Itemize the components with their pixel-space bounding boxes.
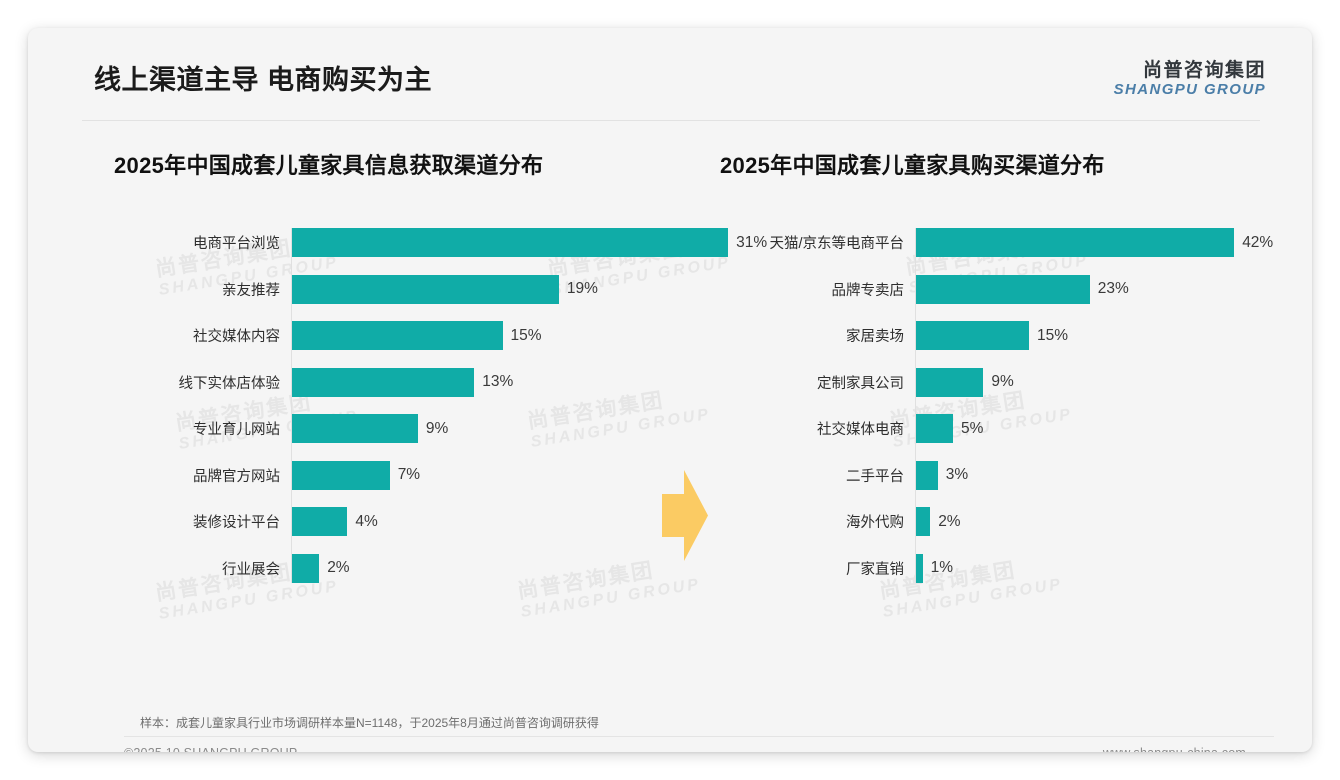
bar-row: 二手平台3% [718, 461, 1258, 490]
bar-value-label: 23% [1098, 280, 1129, 298]
chart-axis-right [915, 228, 916, 583]
bar-row: 品牌官方网站7% [86, 461, 676, 490]
bar [915, 228, 1234, 257]
bar-category-label: 品牌官方网站 [86, 465, 291, 486]
bar-category-label: 海外代购 [718, 511, 915, 532]
bar-row: 天猫/京东等电商平台42% [718, 228, 1258, 257]
copyright-text: ©2025.10 SHANGPU GROUP [124, 746, 297, 752]
website-link[interactable]: www.shangpu-china.com [1103, 746, 1246, 752]
bar-value-label: 5% [961, 420, 983, 438]
bar [915, 461, 938, 490]
bar-row: 厂家直销1% [718, 554, 1258, 583]
bar [291, 554, 319, 583]
footer-divider [124, 736, 1274, 737]
bar-value-label: 9% [426, 420, 448, 438]
brand-logo-cn: 尚普咨询集团 [1114, 61, 1266, 81]
bar-category-label: 定制家具公司 [718, 372, 915, 393]
bar-track: 13% [291, 368, 676, 397]
chart-axis-left [291, 228, 292, 583]
bar-category-label: 天猫/京东等电商平台 [718, 232, 915, 253]
right-arrow-icon [648, 468, 718, 563]
bar-track: 3% [915, 461, 1258, 490]
bar-row: 线下实体店体验13% [86, 368, 676, 397]
bar-value-label: 15% [511, 327, 542, 345]
bar-value-label: 9% [991, 373, 1013, 391]
bar-track: 9% [291, 414, 676, 443]
bar [291, 228, 728, 257]
bar [915, 368, 983, 397]
bar-rows-right: 天猫/京东等电商平台42%品牌专卖店23%家居卖场15%定制家具公司9%社交媒体… [718, 228, 1258, 583]
bar-track: 31% [291, 228, 767, 257]
bar-track: 4% [291, 507, 676, 536]
bar-value-label: 2% [327, 559, 349, 577]
bar-category-label: 社交媒体内容 [86, 325, 291, 346]
bar [291, 275, 559, 304]
bar [915, 321, 1029, 350]
bar-value-label: 2% [938, 513, 960, 531]
bar-track: 15% [915, 321, 1258, 350]
bar-row: 品牌专卖店23% [718, 275, 1258, 304]
chart-plot-left: 电商平台浏览31%亲友推荐19%社交媒体内容15%线下实体店体验13%专业育儿网… [86, 228, 676, 583]
bar [291, 507, 347, 536]
bar-track: 19% [291, 275, 676, 304]
bar [291, 321, 503, 350]
bar [915, 275, 1090, 304]
bar-row: 装修设计平台4% [86, 507, 676, 536]
bar [915, 554, 923, 583]
bar-category-label: 厂家直销 [718, 558, 915, 579]
bar-row: 亲友推荐19% [86, 275, 676, 304]
bar-rows-left: 电商平台浏览31%亲友推荐19%社交媒体内容15%线下实体店体验13%专业育儿网… [86, 228, 676, 583]
bar-category-label: 电商平台浏览 [86, 232, 291, 253]
chart-plot-right: 天猫/京东等电商平台42%品牌专卖店23%家居卖场15%定制家具公司9%社交媒体… [718, 228, 1258, 583]
bar-value-label: 15% [1037, 327, 1068, 345]
bar-track: 5% [915, 414, 1258, 443]
bar-track: 42% [915, 228, 1273, 257]
bar-category-label: 社交媒体电商 [718, 418, 915, 439]
chart-title-left: 2025年中国成套儿童家具信息获取渠道分布 [114, 148, 676, 180]
bar [291, 461, 390, 490]
bar-track: 2% [915, 507, 1258, 536]
slide-canvas: 尚普咨询集团 SHANGPU GROUP 尚普咨询集团 SHANGPU GROU… [28, 28, 1312, 752]
bar-track: 2% [291, 554, 676, 583]
slide-header: 线上渠道主导 电商购买为主 尚普咨询集团 SHANGPU GROUP [28, 28, 1312, 120]
bar [291, 414, 418, 443]
bar [915, 414, 953, 443]
bar-value-label: 19% [567, 280, 598, 298]
header-divider [82, 120, 1260, 121]
bar-track: 9% [915, 368, 1258, 397]
bar-row: 行业展会2% [86, 554, 676, 583]
brand-logo-en: SHANGPU GROUP [1114, 82, 1266, 98]
bar-value-label: 42% [1242, 234, 1273, 252]
bar-category-label: 专业育儿网站 [86, 418, 291, 439]
chart-panel-purchase-channels: 2025年中国成套儿童家具购买渠道分布 天猫/京东等电商平台42%品牌专卖店23… [718, 148, 1258, 658]
bar-category-label: 品牌专卖店 [718, 279, 915, 300]
bar-track: 7% [291, 461, 676, 490]
bar-track: 15% [291, 321, 676, 350]
bar-value-label: 1% [931, 559, 953, 577]
bar-row: 家居卖场15% [718, 321, 1258, 350]
bar-value-label: 4% [355, 513, 377, 531]
bar [915, 507, 930, 536]
brand-logo: 尚普咨询集团 SHANGPU GROUP [1114, 61, 1266, 98]
sample-footnote: 样本：成套儿童家具行业市场调研样本量N=1148，于2025年8月通过尚普咨询调… [140, 714, 599, 731]
bar-track: 1% [915, 554, 1258, 583]
bar-row: 电商平台浏览31% [86, 228, 676, 257]
bar-track: 23% [915, 275, 1258, 304]
bar [291, 368, 474, 397]
bar-value-label: 13% [482, 373, 513, 391]
bar-row: 海外代购2% [718, 507, 1258, 536]
bar-category-label: 家居卖场 [718, 325, 915, 346]
page-title: 线上渠道主导 电商购买为主 [94, 58, 432, 97]
bar-category-label: 二手平台 [718, 465, 915, 486]
chart-title-right: 2025年中国成套儿童家具购买渠道分布 [720, 148, 1258, 180]
bar-row: 专业育儿网站9% [86, 414, 676, 443]
chart-panel-information-channels: 2025年中国成套儿童家具信息获取渠道分布 电商平台浏览31%亲友推荐19%社交… [86, 148, 676, 658]
bar-category-label: 装修设计平台 [86, 511, 291, 532]
bar-row: 社交媒体电商5% [718, 414, 1258, 443]
bar-row: 定制家具公司9% [718, 368, 1258, 397]
bar-category-label: 亲友推荐 [86, 279, 291, 300]
bar-value-label: 7% [398, 466, 420, 484]
bar-category-label: 行业展会 [86, 558, 291, 579]
bar-category-label: 线下实体店体验 [86, 372, 291, 393]
bar-value-label: 3% [946, 466, 968, 484]
bar-row: 社交媒体内容15% [86, 321, 676, 350]
